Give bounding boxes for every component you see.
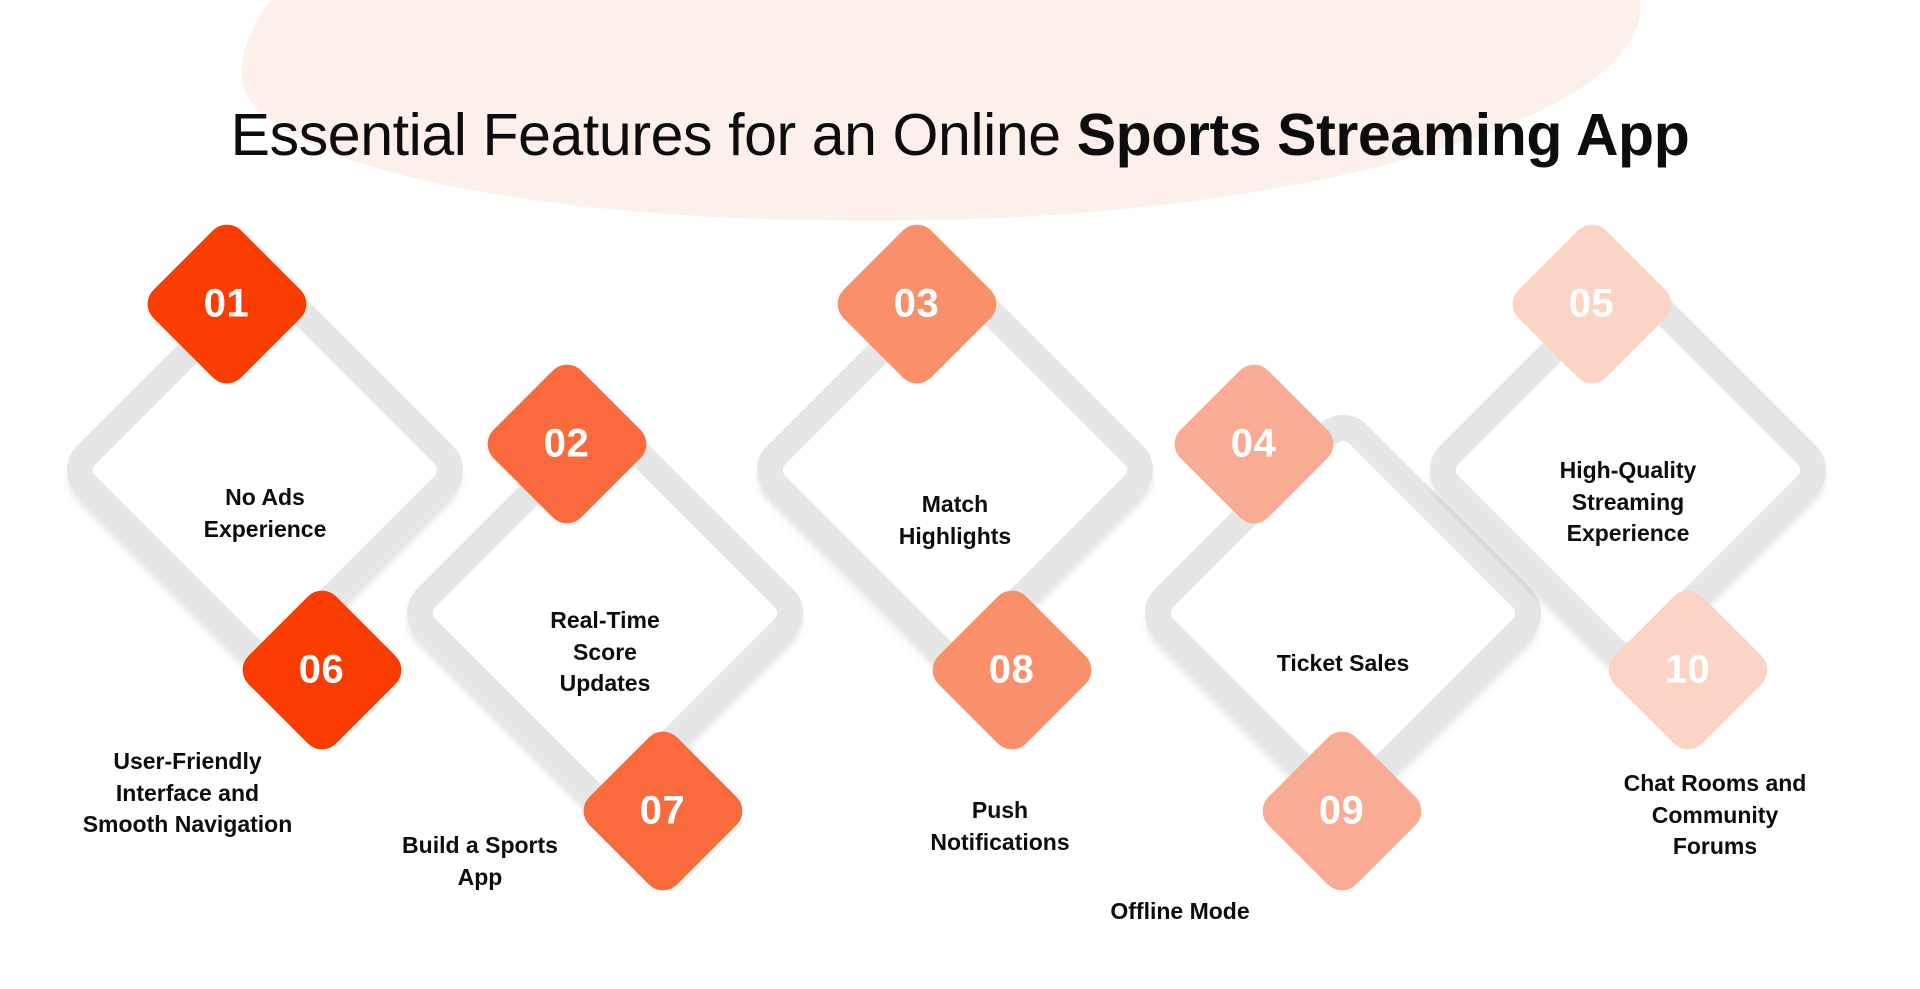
page-title: Essential Features for an Online Sports … <box>0 105 1920 167</box>
caption-chat-rooms-community-forums: Chat Rooms and Community Forums <box>1570 768 1860 863</box>
page-title-container: Essential Features for an Online Sports … <box>0 105 1920 167</box>
page-title-regular: Essential Features for an Online <box>231 102 1077 168</box>
page-title-bold: Sports Streaming App <box>1077 102 1690 168</box>
infographic-canvas: Essential Features for an Online Sports … <box>0 0 1920 989</box>
ring-label-2: Real-Time Score Updates <box>485 605 725 700</box>
caption-offline-mode: Offline Mode <box>1025 896 1335 928</box>
caption-push-notifications: Push Notifications <box>880 795 1120 858</box>
ring-label-4: Ticket Sales <box>1223 648 1463 680</box>
caption-build-a-sports-app: Build a Sports App <box>340 830 620 893</box>
caption-user-friendly-interface: User-Friendly Interface and Smooth Navig… <box>35 746 340 841</box>
ring-label-3: Match Highlights <box>835 489 1075 552</box>
ring-label-1: No Ads Experience <box>145 482 385 545</box>
ring-label-5: High-Quality Streaming Experience <box>1508 455 1748 550</box>
